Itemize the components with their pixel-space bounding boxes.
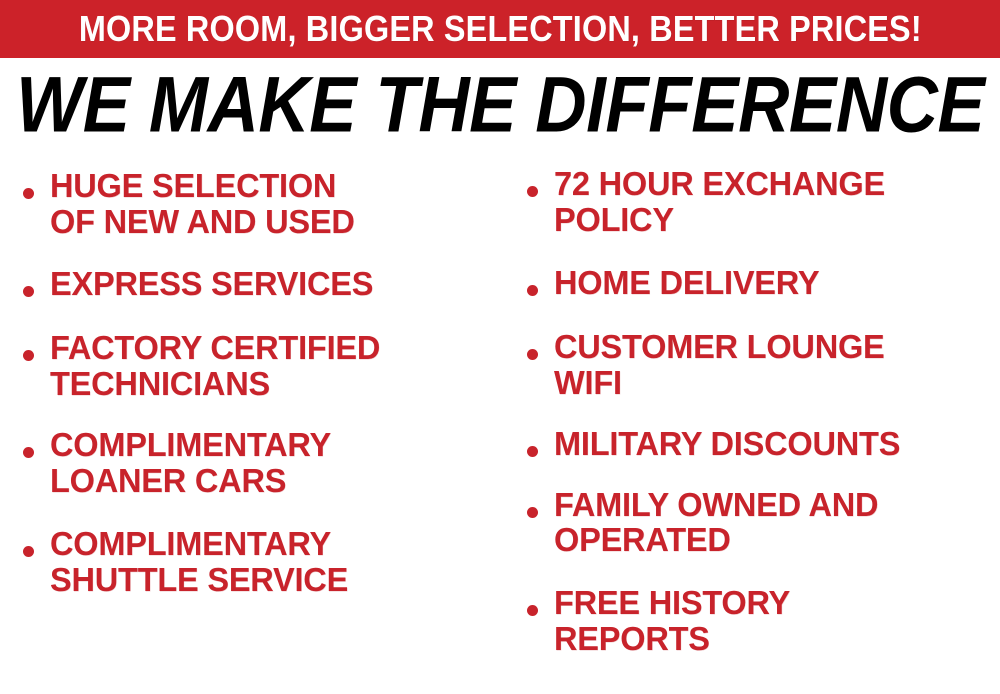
list-item-label: EXPRESS SERVICES: [50, 266, 373, 302]
benefits-column-right: 72 HOUR EXCHANGE POLICY HOME DELIVERY CU…: [518, 160, 1000, 656]
bullet-dot-icon: [527, 605, 538, 616]
list-item-label: COMPLIMENTARY SHUTTLE SERVICE: [50, 526, 348, 597]
promotional-poster: MORE ROOM, BIGGER SELECTION, BETTER PRIC…: [0, 0, 1000, 694]
list-item: COMPLIMENTARY LOANER CARS: [14, 427, 494, 498]
bullet-dot-icon: [23, 447, 34, 458]
bullet-dot-icon: [527, 349, 538, 360]
bullet-dot-icon: [527, 186, 538, 197]
bullet-dot-icon: [527, 285, 538, 296]
list-item: FAMILY OWNED AND OPERATED: [518, 487, 1000, 558]
list-item: HUGE SELECTION OF NEW AND USED: [14, 168, 494, 239]
main-headline-text: WE MAKE THE DIFFERENCE: [16, 66, 984, 144]
list-item: MILITARY DISCOUNTS: [518, 426, 1000, 462]
top-banner: MORE ROOM, BIGGER SELECTION, BETTER PRIC…: [0, 0, 1000, 58]
list-item: 72 HOUR EXCHANGE POLICY: [518, 166, 1000, 237]
bullet-dot-icon: [527, 507, 538, 518]
main-headline-container: WE MAKE THE DIFFERENCE: [0, 62, 1000, 148]
list-item-label: COMPLIMENTARY LOANER CARS: [50, 427, 331, 498]
list-item-label: 72 HOUR EXCHANGE POLICY: [554, 166, 885, 237]
bullet-dot-icon: [23, 546, 34, 557]
list-item-label: MILITARY DISCOUNTS: [554, 426, 900, 462]
bullet-dot-icon: [23, 188, 34, 199]
list-item-label: FAMILY OWNED AND OPERATED: [554, 487, 878, 558]
banner-headline-text: MORE ROOM, BIGGER SELECTION, BETTER PRIC…: [79, 11, 922, 47]
list-item: COMPLIMENTARY SHUTTLE SERVICE: [14, 526, 494, 597]
list-item-label: CUSTOMER LOUNGE WIFI: [554, 329, 885, 400]
benefits-columns: HUGE SELECTION OF NEW AND USED EXPRESS S…: [0, 160, 1000, 694]
list-item: FREE HISTORY REPORTS: [518, 585, 1000, 656]
list-item-label: FREE HISTORY REPORTS: [554, 585, 790, 656]
bullet-dot-icon: [527, 446, 538, 457]
list-item-label: FACTORY CERTIFIED TECHNICIANS: [50, 330, 380, 401]
list-item: FACTORY CERTIFIED TECHNICIANS: [14, 330, 494, 401]
bullet-dot-icon: [23, 286, 34, 297]
bullet-dot-icon: [23, 350, 34, 361]
list-item: EXPRESS SERVICES: [14, 266, 494, 302]
list-item: CUSTOMER LOUNGE WIFI: [518, 329, 1000, 400]
benefits-column-left: HUGE SELECTION OF NEW AND USED EXPRESS S…: [14, 160, 494, 598]
list-item-label: HUGE SELECTION OF NEW AND USED: [50, 168, 355, 239]
list-item: HOME DELIVERY: [518, 265, 1000, 301]
list-item-label: HOME DELIVERY: [554, 265, 819, 301]
